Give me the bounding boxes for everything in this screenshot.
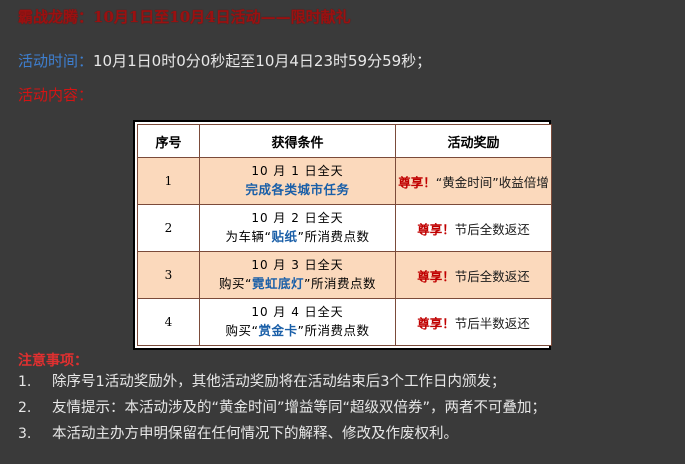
prize-text: “黄金时间”收益倍增 — [436, 175, 549, 190]
condition-prefix: 购买“ — [219, 276, 252, 291]
page-title: 霸战龙腾：10月1日至10月4日活动——限时献礼 — [18, 6, 351, 27]
condition-highlight: 霓虹底灯 — [252, 276, 304, 291]
condition-date: 10 月 3 日全天 — [202, 257, 393, 274]
table-row: 3 10 月 3 日全天 购买“霓虹底灯”所消费点数 尊享！节后全数返还 — [138, 252, 552, 299]
table-row: 1 10 月 1 日全天 完成各类城市任务 尊享！“黄金时间”收益倍增 — [138, 158, 552, 205]
row-prize: 尊享！节后全数返还 — [396, 205, 552, 252]
row-prize: 尊享！节后半数返还 — [396, 299, 552, 346]
note-text: 友情提示：本活动涉及的“黄金时间”增益等同“超级双倍券”，两者不可叠加； — [52, 396, 546, 417]
condition-suffix: ”所消费点数 — [298, 323, 370, 338]
condition-action: 完成各类城市任务 — [202, 181, 393, 199]
prize-lead: 尊享！ — [417, 269, 455, 284]
condition-highlight: 贴纸 — [271, 229, 297, 244]
note-item: 1. 除序号1活动奖励外，其他活动奖励将在活动结束后3个工作日内颁发； — [18, 370, 678, 391]
notes-list: 1. 除序号1活动奖励外，其他活动奖励将在活动结束后3个工作日内颁发； 2. 友… — [18, 370, 678, 448]
row-condition: 10 月 2 日全天 为车辆“贴纸”所消费点数 — [200, 205, 396, 252]
activity-time-label: 活动时间： — [18, 52, 93, 70]
condition-prefix: 为车辆“ — [226, 229, 272, 244]
condition-action: 购买“霓虹底灯”所消费点数 — [202, 275, 393, 293]
activity-time-value: 10月1日0时0分0秒起至10月4日23时59分59秒； — [93, 52, 431, 70]
promo-table-container: 序号 获得条件 活动奖励 1 10 月 1 日全天 完成各类城市任务 尊享！“黄… — [133, 120, 551, 350]
condition-suffix: ”所消费点数 — [298, 229, 370, 244]
condition-date: 10 月 2 日全天 — [202, 210, 393, 227]
condition-action: 为车辆“贴纸”所消费点数 — [202, 228, 393, 246]
row-condition: 10 月 1 日全天 完成各类城市任务 — [200, 158, 396, 205]
row-index: 3 — [138, 252, 200, 299]
table-row: 4 10 月 4 日全天 购买“赏金卡”所消费点数 尊享！节后半数返还 — [138, 299, 552, 346]
promo-table: 序号 获得条件 活动奖励 1 10 月 1 日全天 完成各类城市任务 尊享！“黄… — [137, 124, 552, 346]
note-number: 3. — [18, 426, 52, 442]
condition-date: 10 月 4 日全天 — [202, 304, 393, 321]
note-number: 1. — [18, 374, 52, 390]
announcement-page: 霸战龙腾：10月1日至10月4日活动——限时献礼 活动时间：10月1日0时0分0… — [0, 0, 685, 464]
column-header-cond: 获得条件 — [200, 125, 396, 158]
note-item: 2. 友情提示：本活动涉及的“黄金时间”增益等同“超级双倍券”，两者不可叠加； — [18, 396, 678, 417]
prize-lead: 尊享！ — [417, 222, 455, 237]
row-condition: 10 月 4 日全天 购买“赏金卡”所消费点数 — [200, 299, 396, 346]
prize-lead: 尊享！ — [398, 175, 436, 190]
prize-lead: 尊享！ — [417, 316, 455, 331]
row-prize: 尊享！节后全数返还 — [396, 252, 552, 299]
activity-time-line: 活动时间：10月1日0时0分0秒起至10月4日23时59分59秒； — [18, 50, 431, 71]
prize-text: 节后全数返还 — [455, 269, 530, 284]
activity-content-label: 活动内容： — [18, 84, 93, 105]
column-header-prize: 活动奖励 — [396, 125, 552, 158]
notes-title: 注意事项： — [18, 350, 88, 370]
condition-highlight: 赏金卡 — [258, 323, 297, 338]
condition-highlight: 完成各类城市任务 — [245, 182, 349, 197]
table-row: 2 10 月 2 日全天 为车辆“贴纸”所消费点数 尊享！节后全数返还 — [138, 205, 552, 252]
table-header-row: 序号 获得条件 活动奖励 — [138, 125, 552, 158]
note-number: 2. — [18, 400, 52, 416]
note-item: 3. 本活动主办方申明保留在任何情况下的解释、修改及作废权利。 — [18, 422, 678, 443]
note-text: 除序号1活动奖励外，其他活动奖励将在活动结束后3个工作日内颁发； — [52, 370, 505, 391]
row-index: 4 — [138, 299, 200, 346]
row-condition: 10 月 3 日全天 购买“霓虹底灯”所消费点数 — [200, 252, 396, 299]
prize-text: 节后全数返还 — [455, 222, 530, 237]
row-prize: 尊享！“黄金时间”收益倍增 — [396, 158, 552, 205]
prize-text: 节后半数返还 — [455, 316, 530, 331]
note-text: 本活动主办方申明保留在任何情况下的解释、修改及作废权利。 — [52, 422, 458, 443]
condition-prefix: 购买“ — [226, 323, 259, 338]
condition-date: 10 月 1 日全天 — [202, 163, 393, 180]
row-index: 1 — [138, 158, 200, 205]
column-header-no: 序号 — [138, 125, 200, 158]
condition-suffix: ”所消费点数 — [304, 276, 376, 291]
condition-action: 购买“赏金卡”所消费点数 — [202, 322, 393, 340]
row-index: 2 — [138, 205, 200, 252]
